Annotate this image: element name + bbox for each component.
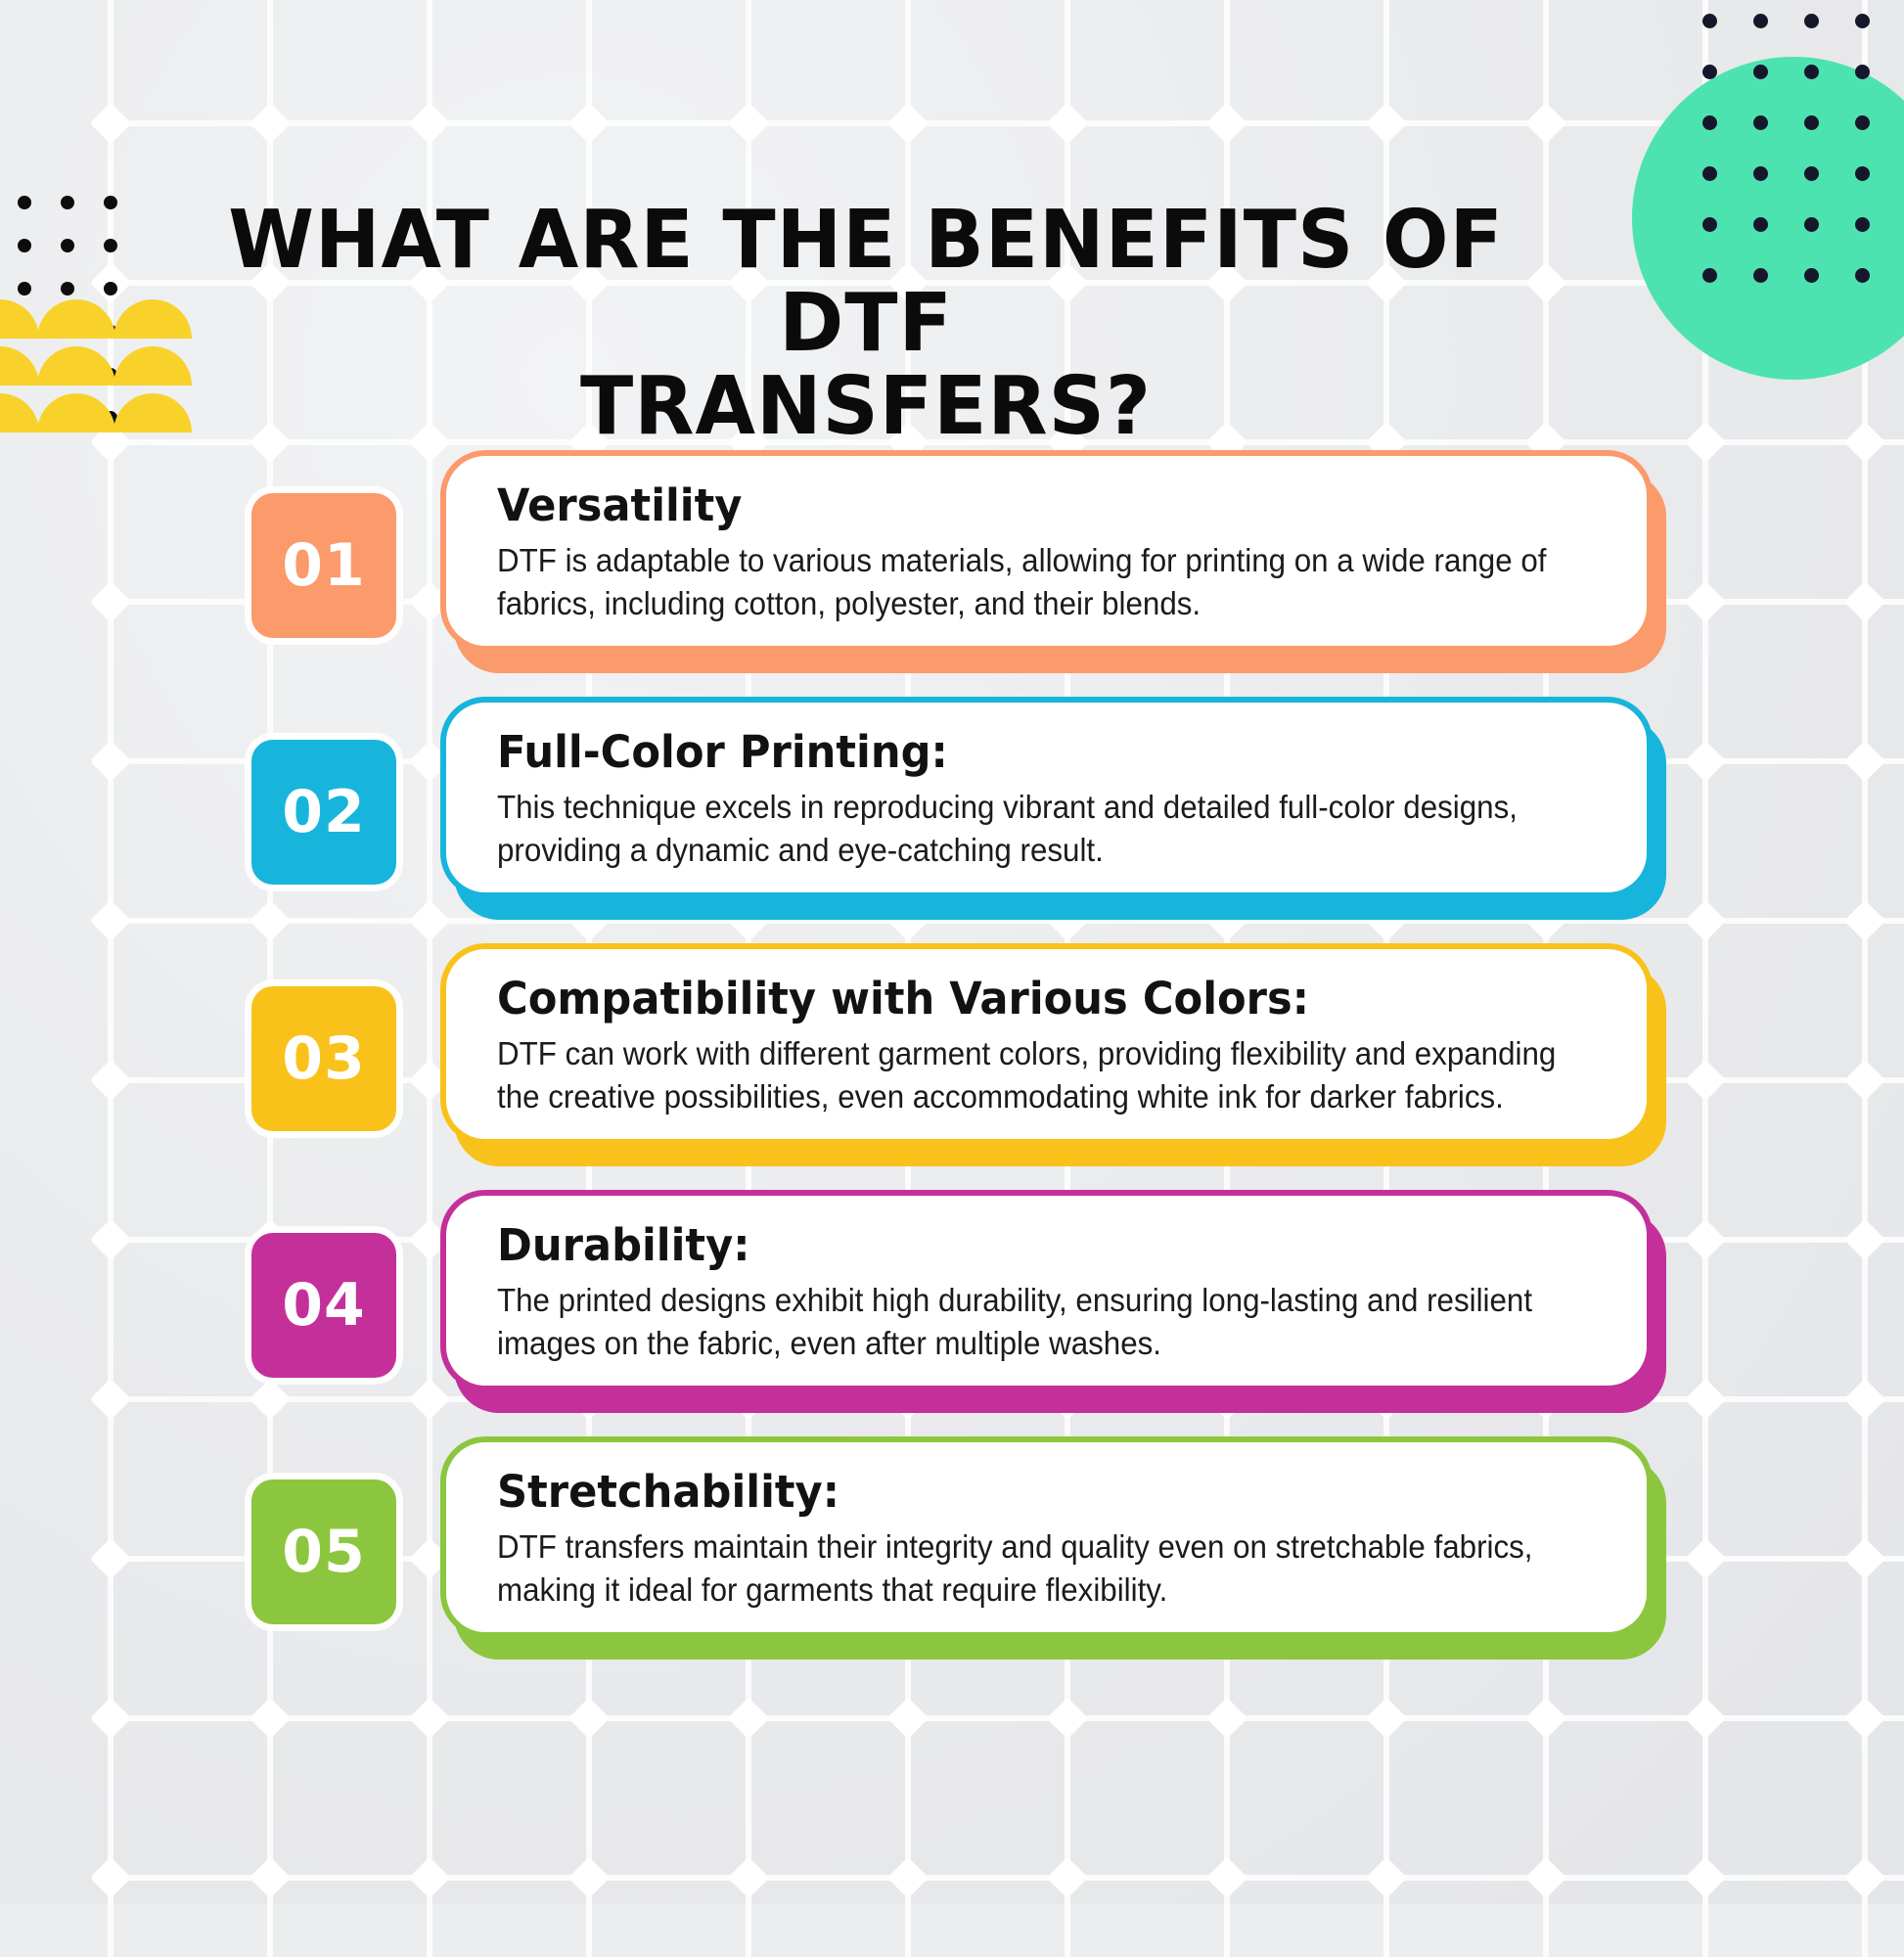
grid-diamond-node — [887, 1698, 929, 1739]
decorative-dot — [1753, 65, 1768, 79]
benefit-number-badge: 04 — [251, 1233, 396, 1378]
grid-diamond-node — [409, 103, 450, 144]
benefit-row: 02Full-Color Printing:This technique exc… — [0, 697, 1904, 906]
grid-diamond-node — [1047, 103, 1088, 144]
decorative-dot — [1753, 115, 1768, 130]
decorative-dot — [61, 239, 74, 252]
grid-diamond-node — [1525, 103, 1566, 144]
yellow-semicircle — [0, 346, 39, 386]
grid-diamond-node — [1206, 103, 1247, 144]
benefit-card-body: The printed designs exhibit high durabil… — [497, 1280, 1597, 1367]
benefit-number-badge: 05 — [251, 1479, 396, 1624]
benefit-number-badge: 03 — [251, 986, 396, 1131]
decorative-dot — [1855, 217, 1870, 232]
benefit-number-label: 05 — [282, 1518, 366, 1586]
decorative-dot — [61, 196, 74, 209]
grid-diamond-node — [409, 1857, 450, 1898]
grid-diamond-node — [728, 103, 769, 144]
yellow-semicircle — [0, 299, 39, 339]
grid-diamond-node — [249, 1698, 291, 1739]
grid-diamond-node — [249, 1857, 291, 1898]
decorative-dot — [1753, 166, 1768, 181]
yellow-semicircle — [37, 393, 115, 432]
decorative-dot — [1804, 217, 1819, 232]
grid-diamond-node — [1685, 1857, 1726, 1898]
benefit-card: Durability:The printed designs exhibit h… — [440, 1190, 1653, 1391]
benefit-card-wrapper: Full-Color Printing:This technique excel… — [440, 697, 1653, 898]
grid-diamond-node — [90, 1857, 131, 1898]
decorative-dot — [18, 196, 31, 209]
grid-diamond-node — [90, 103, 131, 144]
benefit-row: 01VersatilityDTF is adaptable to various… — [0, 450, 1904, 660]
decorative-dot — [1702, 217, 1717, 232]
yellow-semicircles-decoration — [0, 299, 186, 436]
benefit-number-label: 03 — [282, 1024, 366, 1093]
decorative-dot — [1702, 65, 1717, 79]
benefit-card-wrapper: Durability:The printed designs exhibit h… — [440, 1190, 1653, 1391]
grid-diamond-node — [1366, 103, 1407, 144]
decorative-dot — [1702, 14, 1717, 28]
grid-diamond-node — [728, 1857, 769, 1898]
benefit-card-wrapper: Stretchability:DTF transfers maintain th… — [440, 1436, 1653, 1638]
grid-diamond-node — [1366, 1857, 1407, 1898]
benefit-card-title: Full-Color Printing: — [497, 728, 1552, 777]
grid-diamond-node — [568, 103, 610, 144]
yellow-semicircle — [37, 299, 115, 339]
page-title: WHAT ARE THE BENEFITS OF DTF TRANSFERS? — [206, 199, 1525, 449]
benefit-card-body: This technique excels in reproducing vib… — [497, 787, 1597, 874]
grid-diamond-node — [249, 103, 291, 144]
benefit-card: VersatilityDTF is adaptable to various m… — [440, 450, 1653, 652]
benefit-card: Full-Color Printing:This technique excel… — [440, 697, 1653, 898]
decorative-dot — [1804, 268, 1819, 283]
grid-diamond-node — [1525, 1857, 1566, 1898]
benefit-card-title: Durability: — [497, 1221, 1552, 1270]
benefit-card: Stretchability:DTF transfers maintain th… — [440, 1436, 1653, 1638]
benefit-card-wrapper: Compatibility with Various Colors:DTF ca… — [440, 943, 1653, 1145]
benefit-card-body: DTF transfers maintain their integrity a… — [497, 1526, 1597, 1614]
grid-diamond-node — [1844, 1698, 1885, 1739]
yellow-semicircle — [37, 346, 115, 386]
grid-diamond-node — [90, 1698, 131, 1739]
grid-diamond-node — [1525, 1698, 1566, 1739]
grid-diamond-node — [887, 103, 929, 144]
benefit-card: Compatibility with Various Colors:DTF ca… — [440, 943, 1653, 1145]
benefit-number-badge: 01 — [251, 493, 396, 638]
benefit-number-label: 04 — [282, 1271, 366, 1340]
yellow-semicircle — [113, 346, 192, 386]
benefit-card-title: Versatility — [497, 481, 1552, 530]
grid-diamond-node — [887, 1857, 929, 1898]
grid-diamond-node — [1047, 1698, 1088, 1739]
dot-grid-top-right-decoration — [1702, 14, 1898, 268]
decorative-dot — [1855, 166, 1870, 181]
decorative-dot — [1753, 217, 1768, 232]
decorative-dot — [1753, 14, 1768, 28]
benefit-number-label: 01 — [282, 531, 366, 600]
benefit-number-badge: 02 — [251, 740, 396, 885]
decorative-dot — [1753, 268, 1768, 283]
decorative-dot — [1855, 65, 1870, 79]
decorative-dot — [104, 239, 117, 252]
decorative-dot — [1804, 14, 1819, 28]
benefit-row: 04Durability:The printed designs exhibit… — [0, 1190, 1904, 1399]
benefits-list: 01VersatilityDTF is adaptable to various… — [0, 450, 1904, 1683]
benefit-card-title: Compatibility with Various Colors: — [497, 975, 1552, 1024]
grid-diamond-node — [1685, 1698, 1726, 1739]
benefit-card-wrapper: VersatilityDTF is adaptable to various m… — [440, 450, 1653, 652]
benefit-row: 05Stretchability:DTF transfers maintain … — [0, 1436, 1904, 1646]
page-title-line-1: WHAT ARE THE BENEFITS OF DTF — [228, 194, 1504, 370]
benefit-card-title: Stretchability: — [497, 1468, 1552, 1517]
decorative-dot — [1804, 166, 1819, 181]
decorative-dot — [1855, 115, 1870, 130]
yellow-semicircle — [113, 299, 192, 339]
yellow-semicircle — [0, 393, 39, 432]
grid-diamond-node — [1206, 1857, 1247, 1898]
grid-diamond-node — [1206, 1698, 1247, 1739]
decorative-dot — [18, 282, 31, 296]
benefit-row: 03Compatibility with Various Colors:DTF … — [0, 943, 1904, 1153]
decorative-dot — [104, 282, 117, 296]
grid-diamond-node — [568, 1857, 610, 1898]
grid-diamond-node — [1844, 1857, 1885, 1898]
grid-diamond-node — [1525, 262, 1566, 303]
benefit-number-label: 02 — [282, 778, 366, 846]
decorative-dot — [1804, 65, 1819, 79]
decorative-dot — [1702, 268, 1717, 283]
decorative-dot — [1702, 166, 1717, 181]
decorative-dot — [1855, 14, 1870, 28]
grid-diamond-node — [1366, 1698, 1407, 1739]
decorative-dot — [1855, 268, 1870, 283]
decorative-dot — [18, 239, 31, 252]
benefit-card-body: DTF can work with different garment colo… — [497, 1033, 1597, 1120]
page-title-line-2: TRANSFERS? — [580, 360, 1152, 453]
decorative-dot — [1804, 115, 1819, 130]
grid-diamond-node — [568, 1698, 610, 1739]
grid-diamond-node — [728, 1698, 769, 1739]
decorative-dot — [104, 196, 117, 209]
grid-diamond-node — [409, 1698, 450, 1739]
grid-diamond-node — [1047, 1857, 1088, 1898]
decorative-dot — [61, 282, 74, 296]
yellow-semicircle — [113, 393, 192, 432]
benefit-card-body: DTF is adaptable to various materials, a… — [497, 540, 1597, 627]
decorative-dot — [1702, 115, 1717, 130]
